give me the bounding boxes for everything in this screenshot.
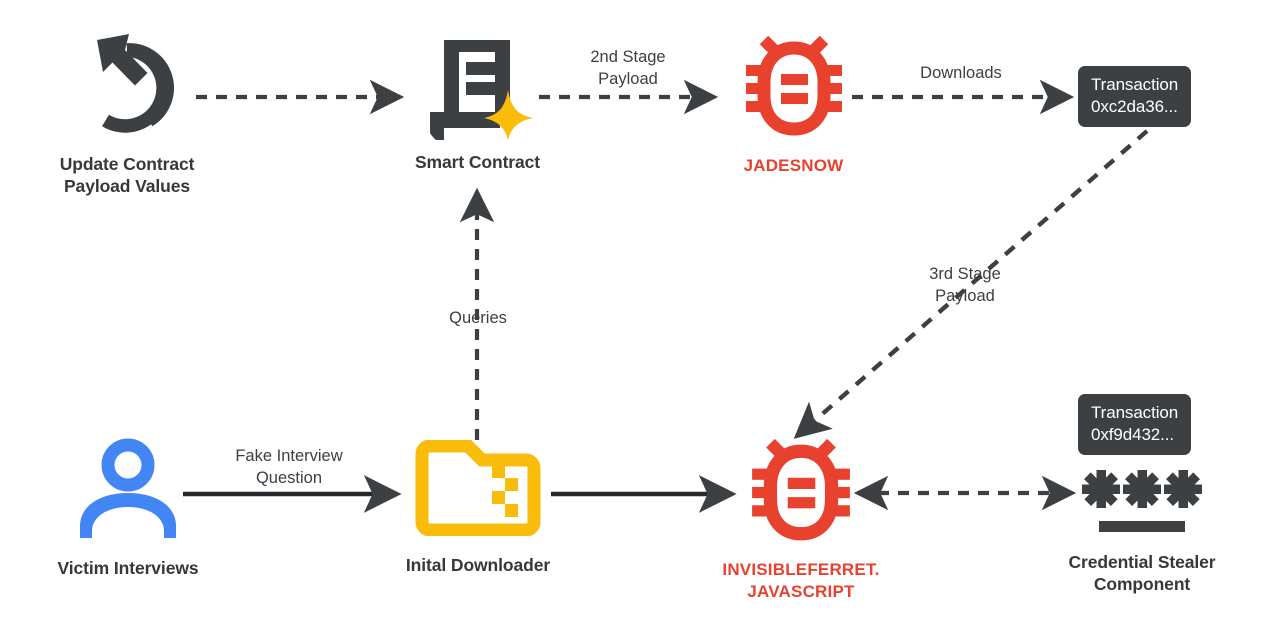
transaction-box-c2da36: Transaction 0xc2da36... [1078, 66, 1191, 127]
node-label-smart-contract: Smart Contract [415, 151, 540, 173]
password-asterisks-icon [1081, 463, 1203, 540]
node-smart-contract: Smart Contract [390, 32, 565, 173]
edge-label-fake-interview-question: Fake Interview Question [209, 446, 369, 490]
node-label-update-contract: Update Contract Payload Values [60, 153, 195, 198]
attack-chain-diagram: 2nd Stage Payload Downloads 3rd Stage Pa… [0, 0, 1280, 639]
node-label-victim-interviews: Victim Interviews [58, 557, 199, 579]
bug-icon [740, 32, 848, 145]
edge-label-queries: Queries [398, 308, 558, 330]
node-label-initial-downloader: Inital Downloader [406, 554, 550, 576]
node-jadesnow: JADESNOW [716, 32, 871, 177]
transaction-box-f9d432: Transaction 0xf9d432... [1078, 394, 1191, 455]
node-credential-stealer: Credential Stealer Component [1040, 463, 1244, 596]
bug-icon [746, 435, 856, 550]
node-update-contract: Update Contract Payload Values [26, 32, 228, 198]
node-invisibleferret: INVISIBLEFERRET. JAVASCRIPT [717, 435, 885, 603]
edge-label-3rd-stage-payload: 3rd Stage Payload [885, 264, 1045, 308]
node-victim-interviews: Victim Interviews [30, 438, 226, 579]
node-initial-downloader: Inital Downloader [383, 440, 573, 576]
contract-document-sparkle-icon [422, 32, 534, 145]
node-label-invisibleferret: INVISIBLEFERRET. JAVASCRIPT [722, 559, 879, 603]
edge-label-2nd-stage-payload: 2nd Stage Payload [548, 47, 708, 91]
person-icon [76, 438, 180, 543]
node-label-jadesnow: JADESNOW [744, 155, 844, 177]
node-label-credential-stealer: Credential Stealer Component [1068, 551, 1215, 596]
folder-icon [414, 440, 542, 541]
edge-label-downloads: Downloads [881, 63, 1041, 85]
refresh-arrow-icon [77, 32, 177, 145]
